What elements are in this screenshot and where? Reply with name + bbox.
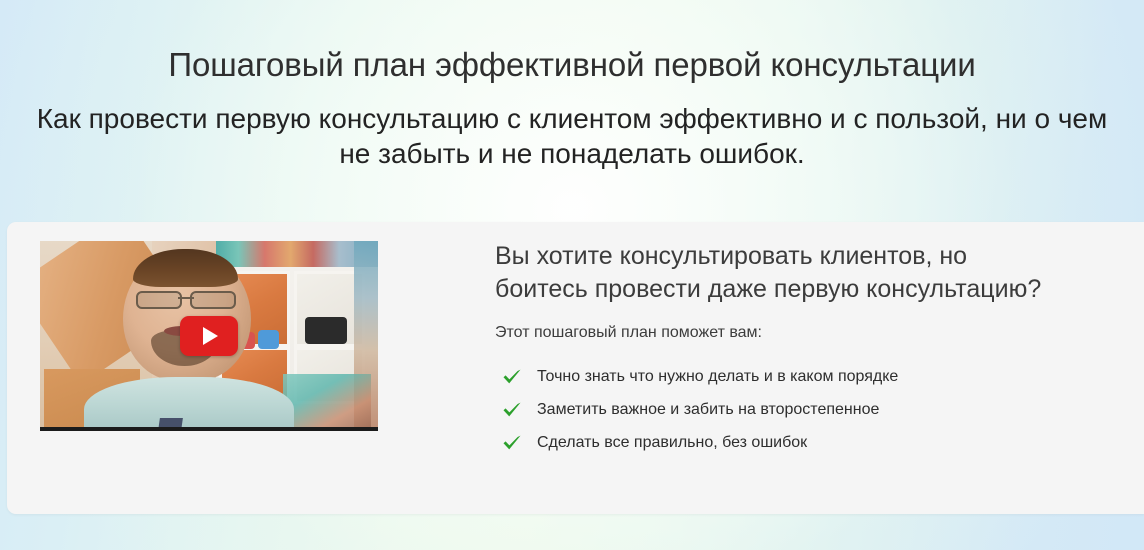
video-player[interactable] — [40, 241, 378, 431]
offer-content: Вы хотите консультировать клиентов, но б… — [495, 240, 1095, 465]
list-item-label: Заметить важное и забить на второстепенн… — [537, 401, 879, 418]
list-item: Точно знать что нужно делать и в каком п… — [495, 366, 1095, 388]
video-control-bar[interactable] — [40, 427, 378, 431]
offer-card: Вы хотите консультировать клиентов, но б… — [7, 222, 1144, 514]
person-hair — [133, 249, 238, 288]
landing-page: Пошаговый план эффективной первой консул… — [0, 0, 1144, 550]
check-icon — [501, 432, 523, 454]
video-scene-bottom-right — [283, 374, 371, 431]
person-glasses — [136, 291, 236, 305]
check-icon — [501, 399, 523, 421]
play-triangle-icon — [203, 327, 218, 345]
page-header: Пошаговый план эффективной первой консул… — [0, 0, 1144, 171]
person-shirt — [84, 377, 294, 431]
benefits-list: Точно знать что нужно делать и в каком п… — [495, 344, 1095, 454]
page-subtitle: Как провести первую консультацию с клиен… — [23, 85, 1121, 171]
page-title: Пошаговый план эффективной первой консул… — [0, 0, 1144, 85]
check-icon — [501, 366, 523, 388]
list-item: Сделать все правильно, без ошибок — [495, 432, 1095, 454]
list-item-label: Сделать все правильно, без ошибок — [537, 434, 807, 451]
shelf-object — [305, 317, 347, 344]
glasses-lens-left — [136, 291, 182, 309]
list-item-label: Точно знать что нужно делать и в каком п… — [537, 368, 898, 385]
play-icon[interactable] — [180, 316, 238, 356]
list-item: Заметить важное и забить на второстепенн… — [495, 399, 1095, 421]
offer-headline: Вы хотите консультировать клиентов, но б… — [495, 240, 1055, 306]
glasses-lens-right — [190, 291, 236, 309]
offer-subheadline: Этот пошаговый план поможет вам: — [495, 306, 1095, 344]
